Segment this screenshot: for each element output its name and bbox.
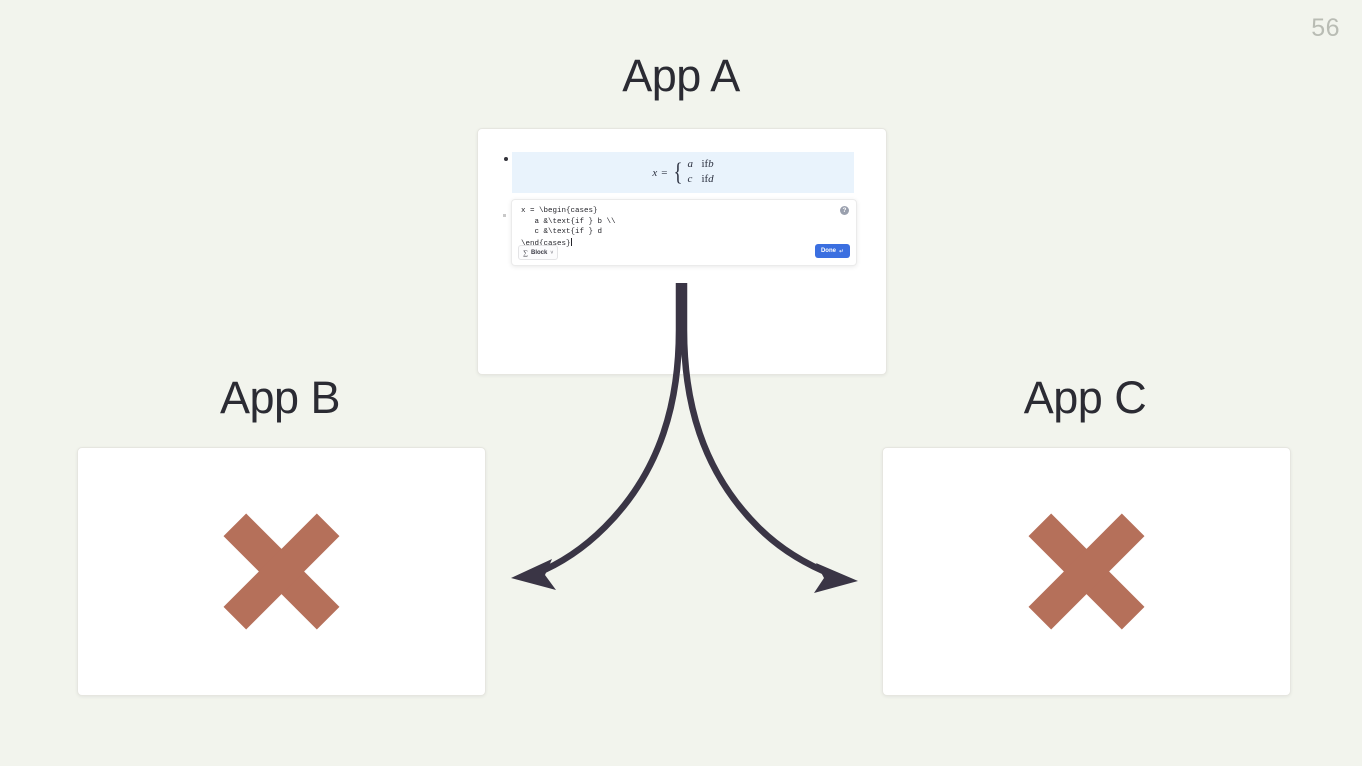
x-mark-icon	[883, 448, 1290, 695]
app-a-title: App A	[0, 50, 1362, 102]
formula-brace: {	[674, 163, 683, 183]
case-value: a	[687, 158, 694, 172]
app-b-window[interactable]	[77, 447, 486, 696]
app-c-title: App C	[885, 372, 1285, 424]
page-number: 56	[1311, 14, 1340, 43]
block-select-label: Block	[531, 250, 547, 256]
done-button[interactable]: Done ↵	[815, 244, 850, 258]
arrow-head-left-icon	[511, 559, 556, 590]
chevron-down-icon: ˅	[550, 250, 553, 256]
rendered-formula-block[interactable]: x = { a ifb c ifd	[512, 152, 854, 193]
app-c-window[interactable]	[882, 447, 1291, 696]
enter-key-icon: ↵	[839, 248, 844, 255]
formula-case-row: c ifd	[687, 173, 713, 187]
editor-toolbar: ∑ Block ˅ Done ↵	[512, 243, 856, 265]
slide-canvas: 56 App A x = { a ifb c ifd	[0, 0, 1362, 766]
app-b-title: App B	[80, 372, 480, 424]
block-type-select[interactable]: ∑ Block ˅	[518, 245, 558, 260]
latex-editor-panel[interactable]: x = \begin{cases} a &\text{if } b \\ c &…	[511, 199, 857, 266]
arrow-head-right-icon	[814, 563, 858, 593]
x-mark-icon	[78, 448, 485, 695]
help-icon[interactable]: ?	[840, 206, 849, 215]
case-condition-var: d	[708, 173, 714, 185]
app-a-window[interactable]: x = { a ifb c ifd x = \begin{cases} a &	[477, 128, 887, 375]
done-button-label: Done	[821, 248, 836, 254]
case-condition-var: b	[708, 158, 714, 170]
bullet-point-icon	[504, 157, 508, 161]
formula-cases: a ifb c ifd	[687, 158, 713, 187]
case-value: c	[687, 173, 694, 187]
code-line: a &\text{if } b \\	[521, 218, 616, 226]
case-condition: ifb	[701, 158, 713, 172]
formula-equals: =	[661, 167, 667, 179]
formula-case-row: a ifb	[687, 158, 713, 172]
rendered-formula: x = { a ifb c ifd	[652, 158, 713, 187]
sigma-icon: ∑	[523, 249, 528, 257]
code-line: c &\text{if } d	[521, 228, 602, 236]
code-line: x = \begin{cases}	[521, 207, 598, 215]
editor-gutter-marker	[503, 214, 506, 217]
formula-lhs: x	[652, 167, 657, 179]
case-condition: ifd	[701, 173, 713, 187]
